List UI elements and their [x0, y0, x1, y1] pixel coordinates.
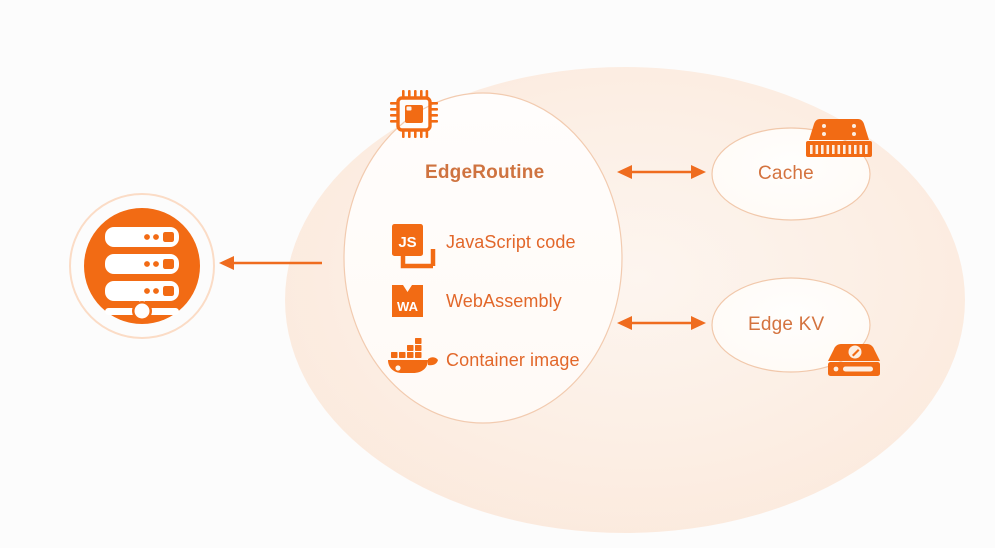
svg-text:WA: WA	[397, 299, 419, 314]
diagram-shapes-layer: JS WA	[0, 0, 995, 548]
hard-disk-icon	[828, 344, 880, 376]
runtime-label-webassembly: WebAssembly	[446, 291, 562, 312]
diagram-canvas: JS WA	[0, 0, 995, 548]
edge-kv-label: Edge KV	[748, 314, 824, 336]
svg-text:JS: JS	[398, 234, 416, 251]
edgeroutine-ellipse	[344, 93, 622, 423]
runtime-label-container: Container image	[446, 350, 580, 371]
runtime-label-javascript: JavaScript code	[446, 232, 576, 253]
memory-module-icon	[806, 119, 872, 157]
edgeroutine-title: EdgeRoutine	[425, 162, 544, 184]
cache-label: Cache	[758, 163, 814, 185]
